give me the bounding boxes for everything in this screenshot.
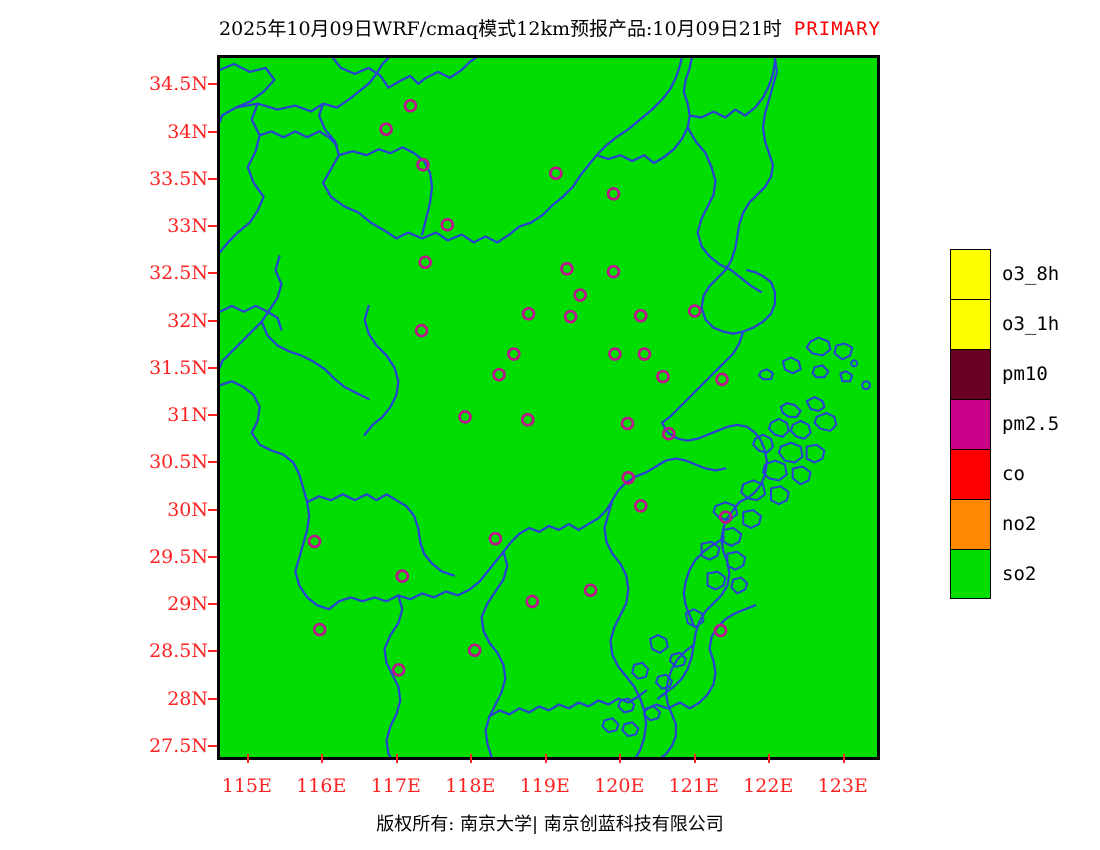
x-axis-tick-label: 118E	[445, 775, 495, 797]
y-axis-tick-mark	[208, 556, 217, 558]
x-axis-tick-label: 119E	[520, 775, 570, 797]
station-marker[interactable]	[442, 219, 453, 230]
x-axis-tick-mark	[619, 754, 621, 763]
station-marker[interactable]	[715, 625, 726, 636]
x-axis-tick-label: 117E	[371, 775, 421, 797]
x-axis-tick-mark	[396, 754, 398, 763]
legend-label: so2	[1002, 563, 1036, 585]
x-axis-tick-label: 121E	[669, 775, 719, 797]
station-marker-layer[interactable]	[309, 100, 731, 675]
province-boundary-layer	[220, 58, 777, 757]
legend-label: o3_1h	[1002, 313, 1059, 335]
station-marker[interactable]	[635, 310, 646, 321]
legend-color-swatch	[950, 299, 991, 349]
y-axis-tick-label: 34N	[167, 121, 208, 143]
legend-row-o3-8h[interactable]: o3_8h	[950, 249, 1095, 299]
station-marker[interactable]	[309, 536, 320, 547]
station-marker[interactable]	[523, 308, 534, 319]
x-axis-tick-label: 115E	[222, 775, 272, 797]
legend-row-co[interactable]: co	[950, 449, 1095, 499]
x-axis-tick-mark	[247, 754, 249, 763]
station-marker[interactable]	[689, 306, 700, 317]
y-axis-tick-mark	[208, 131, 217, 133]
station-marker[interactable]	[460, 411, 471, 422]
station-marker[interactable]	[561, 263, 572, 274]
station-marker[interactable]	[416, 325, 427, 336]
station-marker[interactable]	[469, 645, 480, 656]
y-axis-tick-label: 29N	[167, 593, 208, 615]
y-axis-tick-mark	[208, 698, 217, 700]
station-marker[interactable]	[622, 418, 633, 429]
y-axis-tick-label: 30.5N	[149, 451, 208, 473]
y-axis: 34.5N34N33.5N33N32.5N32N31.5N31N30.5N30N…	[140, 55, 208, 760]
legend-color-swatch	[950, 549, 991, 599]
legend-color-swatch	[950, 499, 991, 549]
x-axis-tick-label: 120E	[594, 775, 644, 797]
title-primary-badge: PRIMARY	[794, 18, 881, 40]
y-axis-tick-label: 28N	[167, 688, 208, 710]
legend-label: co	[1002, 463, 1025, 485]
title-main-text: 2025年10月09日WRF/cmaq模式12km预报产品:10月09日21时	[219, 18, 782, 40]
station-marker[interactable]	[381, 124, 392, 135]
y-axis-tick-mark	[208, 178, 217, 180]
x-axis-tick-label: 116E	[296, 775, 346, 797]
station-marker[interactable]	[494, 369, 505, 380]
x-axis-tick-label: 123E	[818, 775, 868, 797]
x-axis-tick-mark	[545, 754, 547, 763]
y-axis-tick-mark	[208, 83, 217, 85]
legend-color-swatch	[950, 249, 991, 299]
y-axis-tick-label: 28.5N	[149, 640, 208, 662]
y-axis-tick-label: 32N	[167, 310, 208, 332]
y-axis-tick-mark	[208, 225, 217, 227]
legend-label: pm2.5	[1002, 413, 1059, 435]
x-axis-tick-mark	[321, 754, 323, 763]
x-axis-tick-mark	[843, 754, 845, 763]
y-axis-tick-mark	[208, 603, 217, 605]
y-axis-tick-mark	[208, 650, 217, 652]
station-marker[interactable]	[585, 585, 596, 596]
x-axis-tick-mark	[694, 754, 696, 763]
x-axis: 115E116E117E118E119E120E121E122E123E	[217, 763, 880, 803]
y-axis-tick-label: 33.5N	[149, 168, 208, 190]
legend-row-no2[interactable]: no2	[950, 499, 1095, 549]
legend-row-o3-1h[interactable]: o3_1h	[950, 299, 1095, 349]
legend-label: pm10	[1002, 363, 1048, 385]
legend-row-pm2-5[interactable]: pm2.5	[950, 399, 1095, 449]
station-marker[interactable]	[420, 257, 431, 268]
station-marker[interactable]	[490, 533, 501, 544]
station-marker[interactable]	[527, 596, 538, 607]
x-axis-tick-mark	[470, 754, 472, 763]
station-marker[interactable]	[508, 349, 519, 360]
station-marker[interactable]	[609, 349, 620, 360]
station-marker[interactable]	[639, 349, 650, 360]
station-marker[interactable]	[658, 371, 669, 382]
station-marker[interactable]	[575, 290, 586, 301]
station-marker[interactable]	[397, 571, 408, 582]
y-axis-tick-label: 33N	[167, 215, 208, 237]
copyright-footer: 版权所有: 南京大学| 南京创蓝科技有限公司	[0, 810, 1100, 836]
y-axis-tick-label: 27.5N	[149, 735, 208, 757]
y-axis-tick-label: 31N	[167, 404, 208, 426]
station-marker[interactable]	[393, 664, 404, 675]
y-axis-tick-mark	[208, 414, 217, 416]
legend-color-swatch	[950, 349, 991, 399]
legend-color-swatch	[950, 399, 991, 449]
station-marker[interactable]	[314, 624, 325, 635]
station-marker[interactable]	[608, 266, 619, 277]
y-axis-tick-mark	[208, 272, 217, 274]
y-axis-tick-label: 34.5N	[149, 73, 208, 95]
station-marker[interactable]	[522, 414, 533, 425]
station-marker[interactable]	[565, 311, 576, 322]
legend-label: no2	[1002, 513, 1036, 535]
x-axis-tick-label: 122E	[743, 775, 793, 797]
map-plot-area[interactable]	[217, 55, 880, 760]
station-marker[interactable]	[635, 500, 646, 511]
y-axis-tick-mark	[208, 320, 217, 322]
station-marker[interactable]	[550, 168, 561, 179]
island-coastline-layer	[603, 338, 871, 737]
pollutant-legend: o3_8ho3_1hpm10pm2.5cono2so2	[950, 249, 1095, 599]
y-axis-tick-label: 32.5N	[149, 262, 208, 284]
page-title: 2025年10月09日WRF/cmaq模式12km预报产品:10月09日21时P…	[0, 14, 1100, 41]
legend-row-pm10[interactable]: pm10	[950, 349, 1095, 399]
y-axis-tick-mark	[208, 509, 217, 511]
legend-row-so2[interactable]: so2	[950, 549, 1095, 599]
map-canvas[interactable]	[220, 58, 877, 757]
y-axis-tick-label: 29.5N	[149, 546, 208, 568]
y-axis-tick-label: 30N	[167, 499, 208, 521]
y-axis-tick-mark	[208, 461, 217, 463]
y-axis-tick-label: 31.5N	[149, 357, 208, 379]
station-marker[interactable]	[608, 188, 619, 199]
y-axis-tick-mark	[208, 745, 217, 747]
station-marker[interactable]	[405, 100, 416, 111]
legend-label: o3_8h	[1002, 263, 1059, 285]
legend-color-swatch	[950, 449, 991, 499]
x-axis-tick-mark	[768, 754, 770, 763]
y-axis-tick-mark	[208, 367, 217, 369]
station-marker[interactable]	[717, 374, 728, 385]
